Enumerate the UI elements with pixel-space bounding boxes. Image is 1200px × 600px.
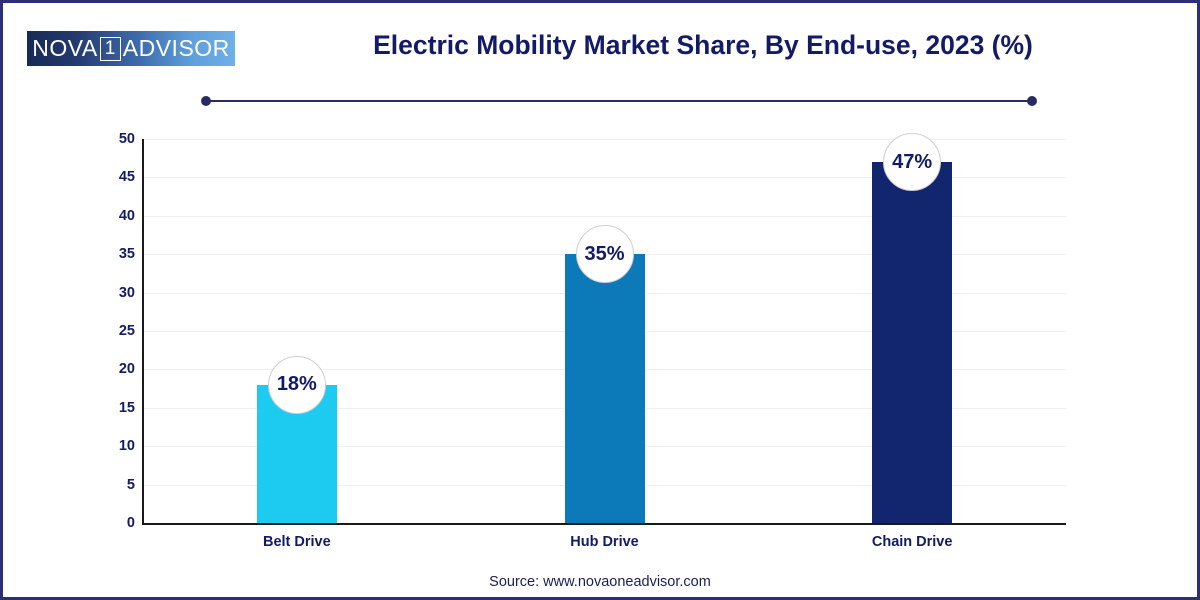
chart-page: NOVA1ADVISOR Electric Mobility Market Sh… (0, 0, 1200, 600)
x-axis-category-label: Chain Drive (812, 534, 1012, 550)
divider-dot-left-icon (201, 96, 211, 106)
y-axis-tick-label: 45 (75, 169, 135, 185)
bar-series (143, 139, 1066, 523)
value-label-belt-drive: 18% (268, 356, 326, 414)
y-axis-tick-label: 0 (75, 515, 135, 531)
chart-title: Electric Mobility Market Share, By End-u… (253, 30, 1153, 61)
nova-one-advisor-logo[interactable]: NOVA1ADVISOR (27, 31, 235, 66)
logo-text-advisor: ADVISOR (123, 37, 230, 60)
header-divider (203, 96, 1035, 106)
value-label-hub-drive: 35% (576, 225, 634, 283)
y-axis-tick-label: 30 (75, 285, 135, 301)
y-axis-tick-label: 40 (75, 208, 135, 224)
divider-dot-right-icon (1027, 96, 1037, 106)
x-axis-line (142, 523, 1066, 525)
value-label-chain-drive: 47% (883, 133, 941, 191)
x-axis-category-label: Hub Drive (505, 534, 705, 550)
y-axis-tick-label: 35 (75, 246, 135, 262)
logo-text-nova: NOVA (32, 37, 97, 60)
divider-rule (203, 100, 1035, 103)
bar-hub-drive[interactable] (565, 254, 645, 523)
x-axis-category-label: Belt Drive (197, 534, 397, 550)
y-axis-tick-labels: 05101520253035404550 (71, 139, 135, 523)
bar-chain-drive[interactable] (872, 162, 952, 523)
logo-badge-one: 1 (100, 37, 121, 61)
y-axis-tick-label: 20 (75, 361, 135, 377)
y-axis-tick-label: 25 (75, 323, 135, 339)
y-axis-tick-label: 15 (75, 400, 135, 416)
y-axis-tick-label: 50 (75, 131, 135, 147)
y-axis-tick-label: 10 (75, 438, 135, 454)
y-axis-tick-label: 5 (75, 477, 135, 493)
source-caption: Source: www.novaoneadvisor.com (3, 574, 1197, 590)
